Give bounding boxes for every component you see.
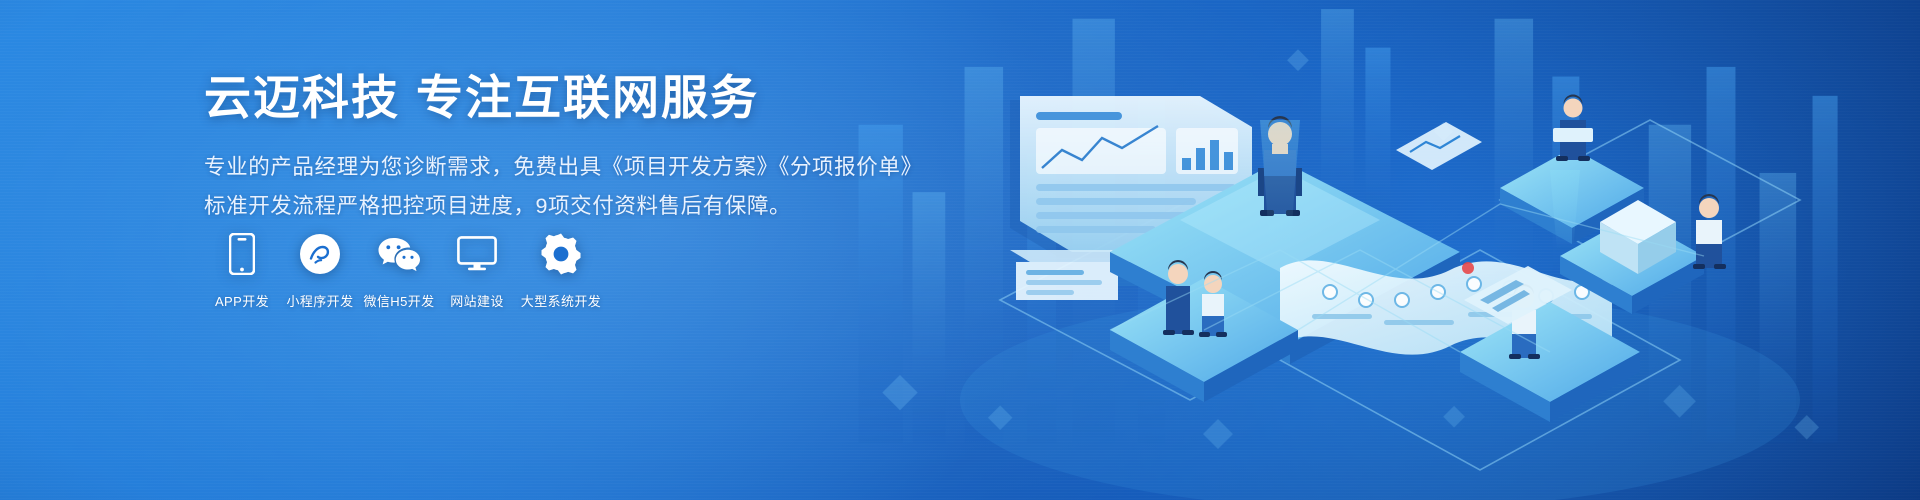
headline-part-2: 专注互联网服务 [416,71,759,124]
banner-copy: 云迈科技专注互联网服务 专业的产品经理为您诊断需求，免费出具《项目开发方案》《分… [204,70,964,225]
isometric-team-dashboard-illustration [860,0,1920,500]
service-label: 微信H5开发 [363,291,434,310]
subtitle-line-2: 标准开发流程严格把控项目进度，9项交付资料售后有保障。 [204,187,964,225]
service-label: APP开发 [215,291,269,310]
service-list: APP开发 小程序开发 [203,232,607,310]
subtitle-line-1: 专业的产品经理为您诊断需求，免费出具《项目开发方案》《分项报价单》 [204,148,964,186]
mini-program-icon [299,232,341,276]
headline-part-1: 云迈科技 [204,71,400,124]
service-item-website[interactable]: 网站建设 [439,232,515,310]
banner-subtitle: 专业的产品经理为您诊断需求，免费出具《项目开发方案》《分项报价单》 标准开发流程… [204,148,964,225]
mobile-phone-icon [229,232,255,276]
floating-chart-widget [1396,122,1482,170]
person-sitting-upper-right [1553,95,1593,162]
service-item-wechat-h5[interactable]: 微信H5开发 [359,232,439,310]
service-label: 小程序开发 [286,291,353,310]
gear-icon [540,232,582,276]
person-standing-right [1693,194,1726,269]
service-item-miniprogram[interactable]: 小程序开发 [281,232,359,310]
service-item-large-system[interactable]: 大型系统开发 [515,232,607,310]
hero-banner: 云迈科技专注互联网服务 专业的产品经理为您诊断需求，免费出具《项目开发方案》《分… [0,0,1920,500]
service-label: 大型系统开发 [521,291,601,310]
monitor-icon [457,232,497,276]
service-label: 网站建设 [450,291,504,310]
page-title: 云迈科技专注互联网服务 [204,70,964,125]
service-item-app[interactable]: APP开发 [203,232,281,310]
wechat-icon [376,232,422,276]
